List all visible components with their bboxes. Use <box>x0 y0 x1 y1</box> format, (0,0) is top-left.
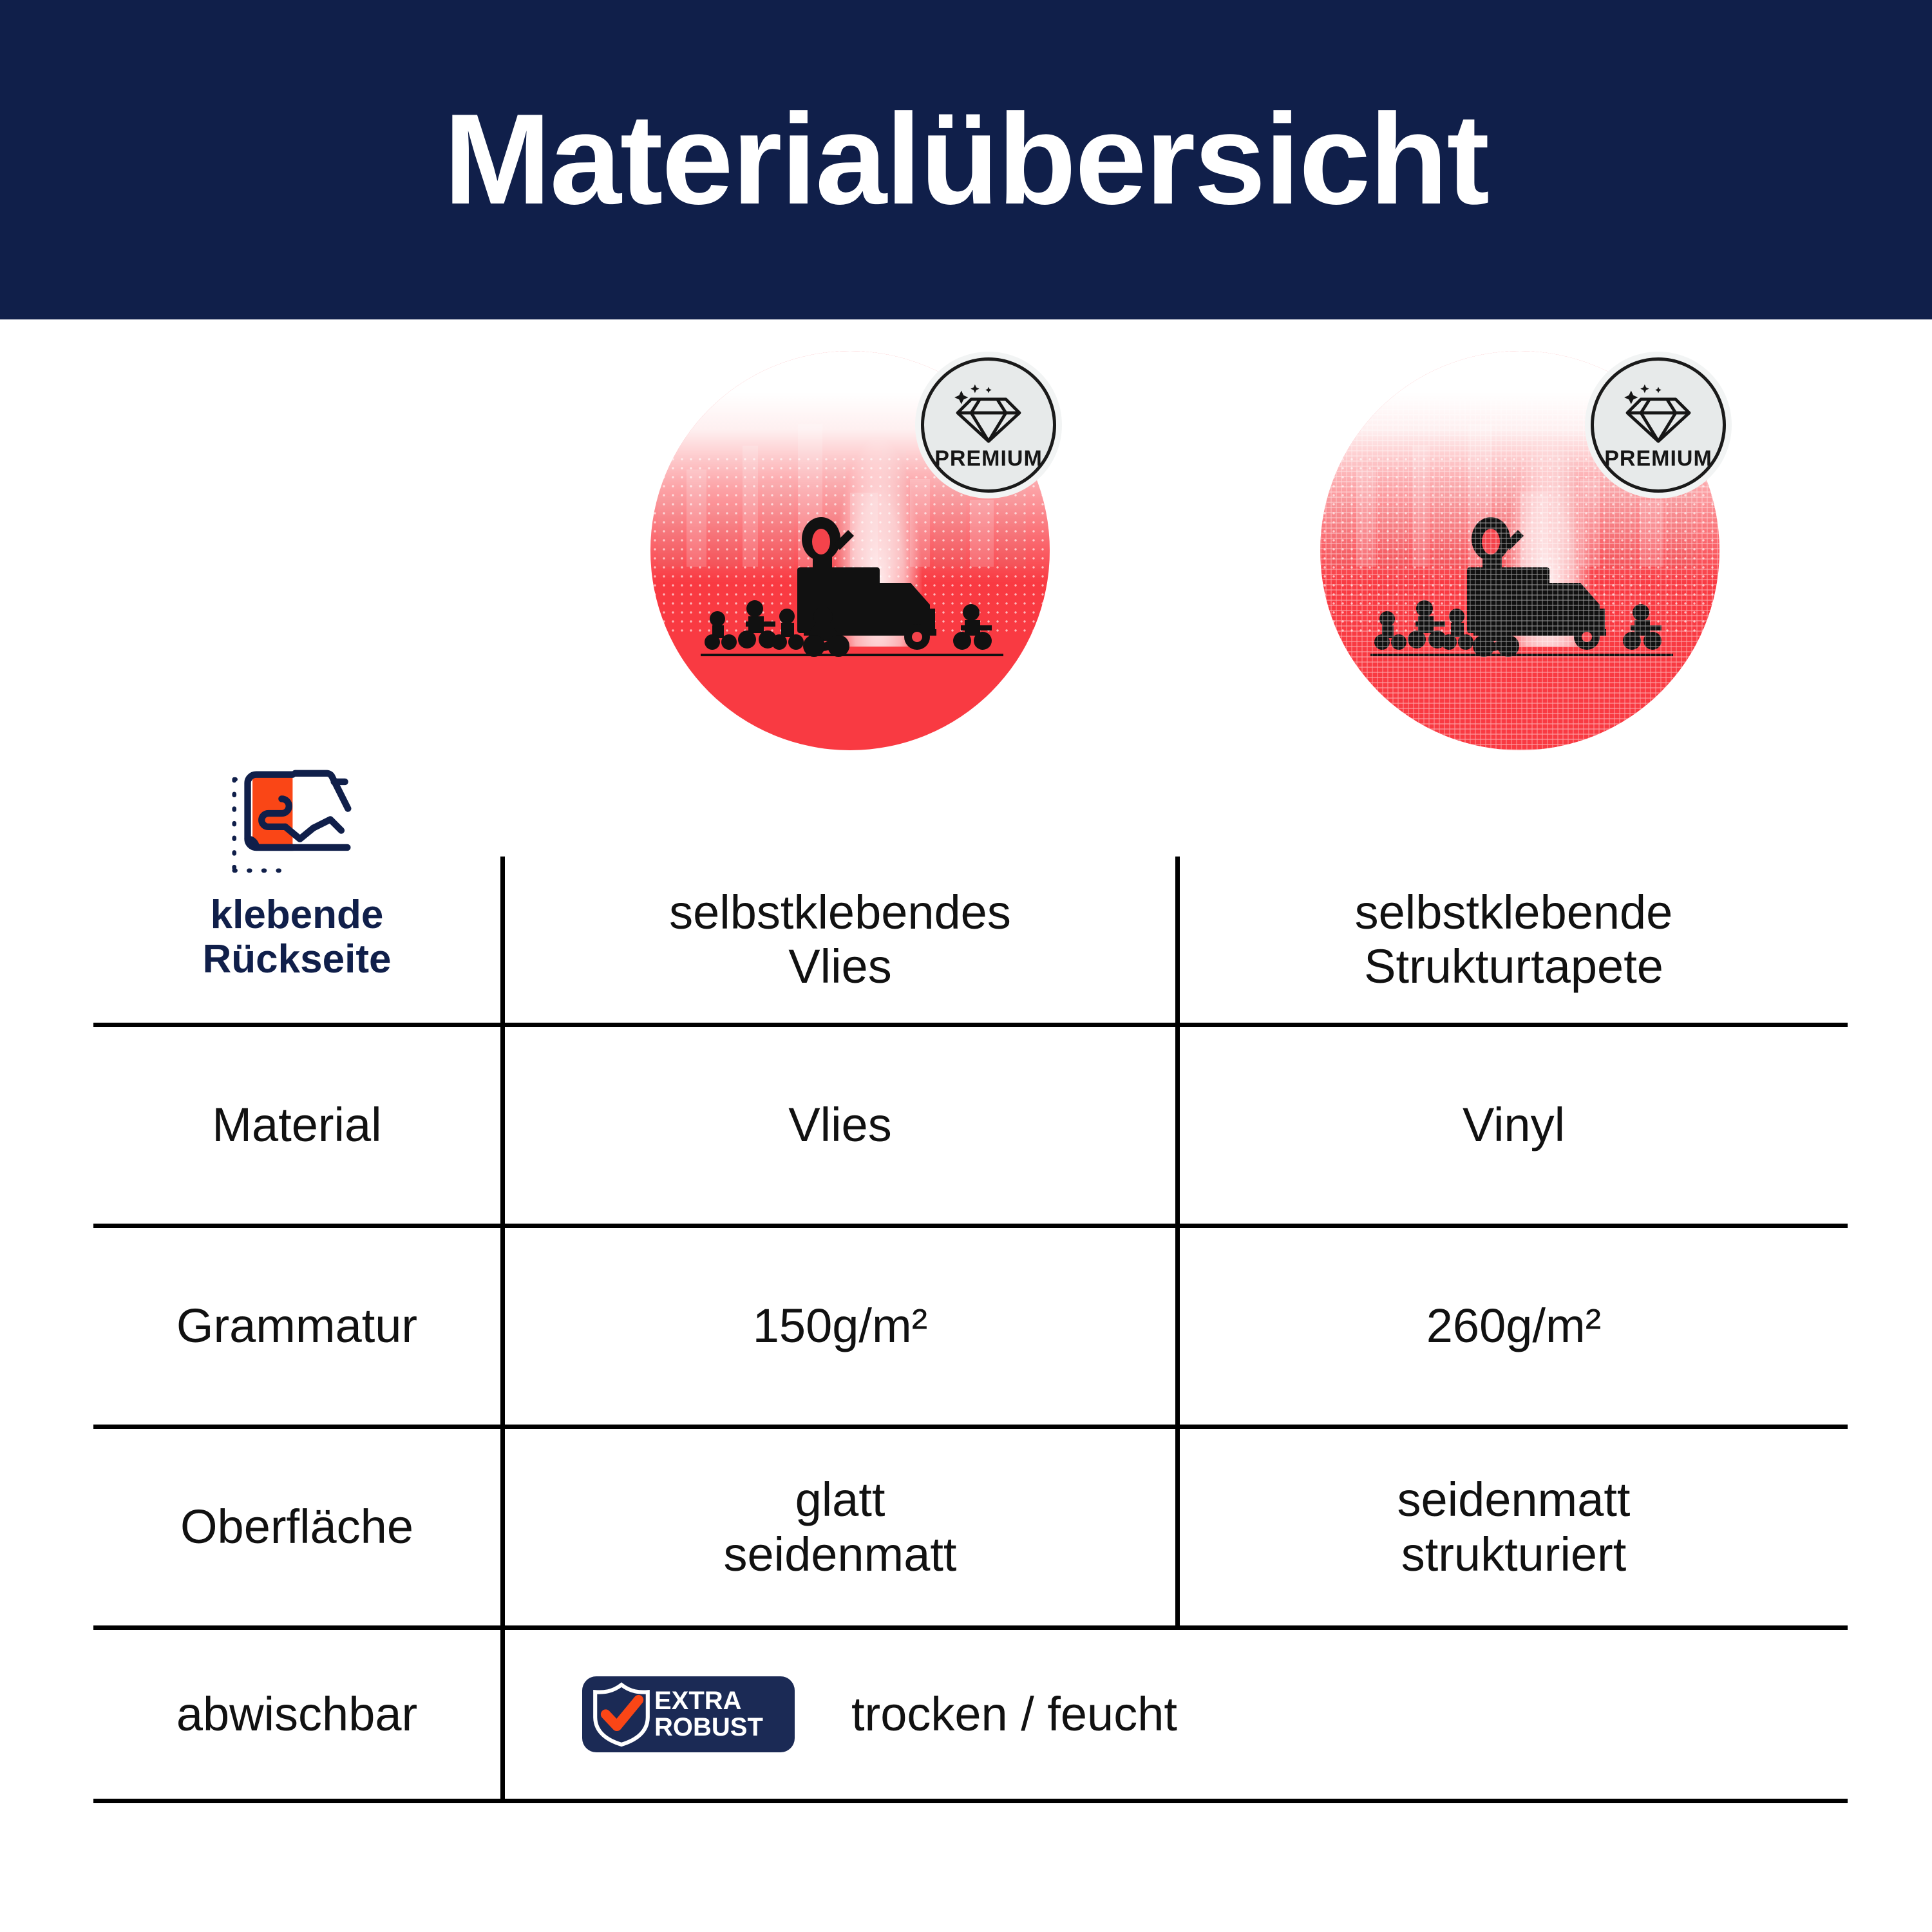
premium-badge-label: PREMIUM <box>934 446 1043 471</box>
row-label-oberflaeche: Oberfläche <box>93 1427 503 1628</box>
cell-grammatur-vinyl: 260g/m² <box>1178 1226 1848 1427</box>
cell-oberflaeche-vinyl-line2: strukturiert <box>1180 1528 1848 1582</box>
extra-robust-line1: EXTRA <box>654 1688 763 1714</box>
cell-oberflaeche-vinyl-line1: seidenmatt <box>1180 1473 1848 1527</box>
row-label-grammatur: Grammatur <box>93 1226 503 1427</box>
header-cell-feature <box>93 857 503 1025</box>
extra-robust-label: EXTRA ROBUST <box>654 1688 763 1741</box>
shield-check-icon <box>589 1681 654 1747</box>
table-row-oberflaeche: Oberfläche glatt seidenmatt seidenmatt s… <box>93 1427 1848 1628</box>
cell-material-vlies: Vlies <box>503 1025 1178 1226</box>
premium-badge-2: PREMIUM <box>1591 357 1726 493</box>
cell-material-vinyl: Vinyl <box>1178 1025 1848 1226</box>
cell-oberflaeche-vlies: glatt seidenmatt <box>503 1427 1178 1628</box>
table-row-abwischbar: abwischbar EXTRA R <box>93 1628 1848 1801</box>
table-header-row: selbstklebendes Vlies selbstklebende Str… <box>93 857 1848 1025</box>
header-vlies-line1: selbstklebendes <box>505 885 1175 940</box>
diamond-icon <box>1620 383 1696 445</box>
table-row-grammatur: Grammatur 150g/m² 260g/m² <box>93 1226 1848 1427</box>
cell-oberflaeche-vlies-line1: glatt <box>505 1473 1175 1527</box>
material-spec-table: selbstklebendes Vlies selbstklebende Str… <box>93 857 1839 1803</box>
header-cell-vlies: selbstklebendes Vlies <box>503 857 1178 1025</box>
header-struktur-line2: Strukturtapete <box>1180 940 1848 994</box>
product-preview-2: PREMIUM <box>1320 351 1835 763</box>
page-header-band: Materialübersicht <box>0 0 1932 319</box>
cell-oberflaeche-vinyl: seidenmatt strukturiert <box>1178 1427 1848 1628</box>
extra-robust-line2: ROBUST <box>654 1714 763 1741</box>
premium-badge-label: PREMIUM <box>1604 446 1712 471</box>
abwischbar-text: trocken / feucht <box>851 1687 1177 1741</box>
row-label-material: Material <box>93 1025 503 1226</box>
cell-grammatur-vlies: 150g/m² <box>503 1226 1178 1427</box>
header-struktur-line1: selbstklebende <box>1180 885 1848 940</box>
cell-abwischbar-value: EXTRA ROBUST trocken / feucht <box>503 1628 1848 1801</box>
cell-oberflaeche-vlies-line2: seidenmatt <box>505 1528 1175 1582</box>
extra-robust-badge: EXTRA ROBUST <box>582 1676 795 1752</box>
table-row-material: Material Vlies Vinyl <box>93 1025 1848 1226</box>
product-preview-1: PREMIUM <box>650 351 1166 763</box>
header-vlies-line2: Vlies <box>505 940 1175 994</box>
page-title: Materialübersicht <box>444 95 1488 224</box>
row-label-abwischbar: abwischbar <box>93 1628 503 1801</box>
diamond-icon <box>951 383 1027 445</box>
premium-badge-1: PREMIUM <box>921 357 1056 493</box>
header-cell-strukturtapete: selbstklebende Strukturtapete <box>1178 857 1848 1025</box>
